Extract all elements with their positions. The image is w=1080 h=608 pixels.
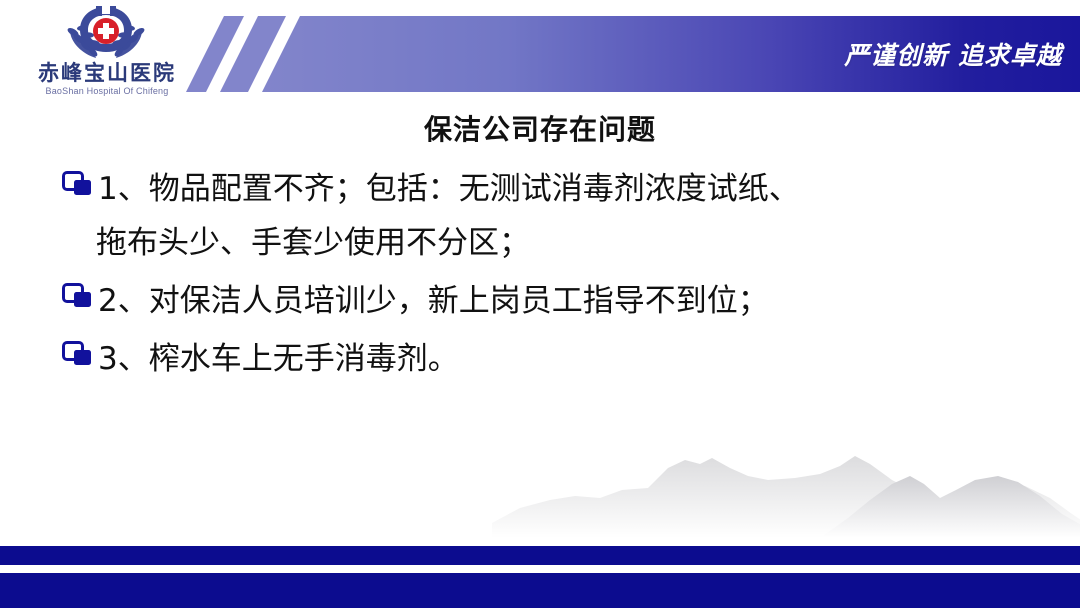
mountain-silhouette-watermark <box>400 418 1080 538</box>
list-item: 2、对保洁人员培训少，新上岗员工指导不到位； <box>62 274 1042 328</box>
list-item-text: 1、物品配置不齐；包括：无测试消毒剂浓度试纸、 拖布头少、手套少使用不分区； <box>62 162 1042 270</box>
hospital-logo: 赤峰宝山医院 BaoShan Hospital Of Chifeng <box>32 4 182 104</box>
header-banner: 严谨创新 追求卓越 <box>186 16 1080 92</box>
slide-header: 赤峰宝山医院 BaoShan Hospital Of Chifeng <box>0 0 1080 108</box>
hospital-emblem-icon <box>62 4 150 62</box>
page-title: 保洁公司存在问题 <box>0 108 1080 148</box>
list-item-line1: 1、物品配置不齐；包括：无测试消毒剂浓度试纸、 <box>98 171 800 207</box>
list-item-text: 3、榨水车上无手消毒剂。 <box>62 332 1042 386</box>
double-square-bullet-icon <box>62 171 92 197</box>
banner-slogan: 严谨创新 追求卓越 <box>844 36 1062 72</box>
list-item: 1、物品配置不齐；包括：无测试消毒剂浓度试纸、 拖布头少、手套少使用不分区； <box>62 162 1042 270</box>
list-item-text: 2、对保洁人员培训少，新上岗员工指导不到位； <box>62 274 1042 328</box>
footer-gap <box>0 565 1080 573</box>
double-square-bullet-icon <box>62 283 92 309</box>
double-square-bullet-icon <box>62 341 92 367</box>
list-item: 3、榨水车上无手消毒剂。 <box>62 332 1042 386</box>
footer-bar-thin <box>0 546 1080 565</box>
bullet-list: 1、物品配置不齐；包括：无测试消毒剂浓度试纸、 拖布头少、手套少使用不分区； 2… <box>62 162 1042 390</box>
list-item-line2: 拖布头少、手套少使用不分区； <box>96 216 1042 270</box>
list-item-line1: 3、榨水车上无手消毒剂。 <box>98 341 459 377</box>
list-item-line1: 2、对保洁人员培训少，新上岗员工指导不到位； <box>98 283 769 319</box>
logo-name-cn: 赤峰宝山医院 <box>32 61 182 85</box>
footer-bar-thick <box>0 573 1080 608</box>
logo-name-en: BaoShan Hospital Of Chifeng <box>32 86 182 96</box>
slide-canvas: 赤峰宝山医院 BaoShan Hospital Of Chifeng <box>0 0 1080 608</box>
